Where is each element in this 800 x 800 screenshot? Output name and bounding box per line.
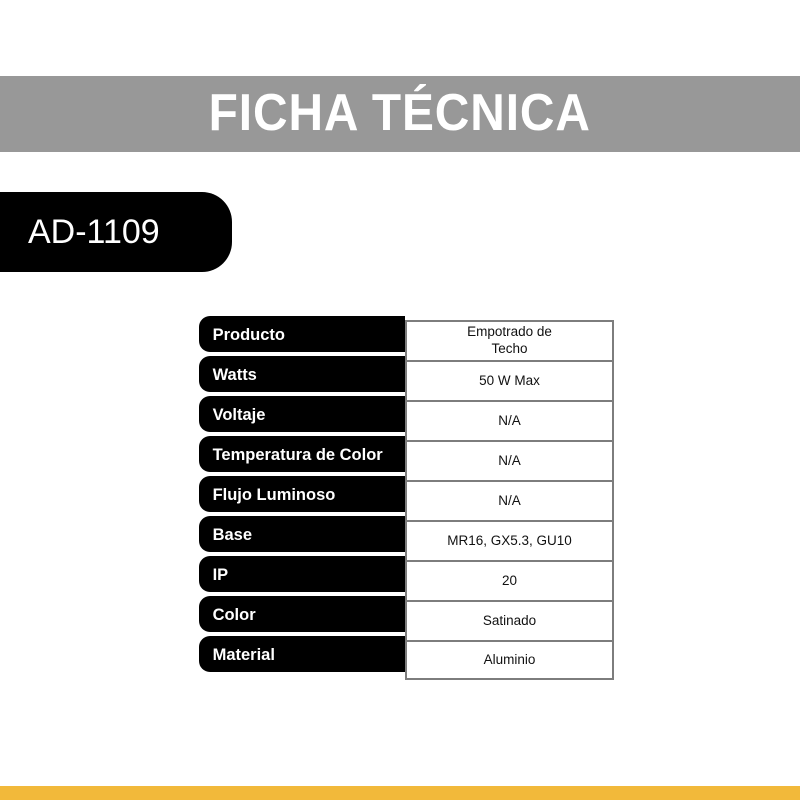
spec-value-cell: MR16, GX5.3, GU10 — [405, 520, 614, 560]
spec-row: Flujo LuminosoN/A — [199, 476, 614, 516]
spec-value-text: Empotrado de Techo — [461, 324, 558, 358]
tech-spec-sheet: FICHA TÉCNICA AD-1109 ProductoEmpotrado … — [0, 0, 800, 800]
spec-label-text: Watts — [199, 366, 257, 383]
spec-table: ProductoEmpotrado de TechoWatts50 W MaxV… — [199, 316, 614, 676]
spec-label-text: Flujo Luminoso — [199, 486, 335, 503]
spec-value-text: 50 W Max — [473, 373, 546, 390]
spec-value-text: Aluminio — [478, 652, 542, 669]
spec-label-text: Voltaje — [199, 406, 265, 423]
spec-value-text: 20 — [496, 573, 523, 590]
spec-row: ColorSatinado — [199, 596, 614, 636]
spec-value-text: N/A — [492, 413, 527, 430]
spec-label-pill: Voltaje — [199, 396, 405, 432]
footer-accent-bar — [0, 786, 800, 800]
spec-value-cell: N/A — [405, 480, 614, 520]
spec-label-pill: Temperatura de Color — [199, 436, 405, 472]
spec-row: ProductoEmpotrado de Techo — [199, 316, 614, 356]
spec-row: BaseMR16, GX5.3, GU10 — [199, 516, 614, 556]
spec-value-cell: Empotrado de Techo — [405, 320, 614, 360]
spec-label-text: Material — [199, 646, 275, 663]
spec-label-pill: Material — [199, 636, 405, 672]
spec-value-cell: 20 — [405, 560, 614, 600]
spec-label-pill: Color — [199, 596, 405, 632]
spec-row: Watts50 W Max — [199, 356, 614, 396]
spec-label-text: Producto — [199, 326, 285, 343]
spec-value-cell: N/A — [405, 440, 614, 480]
header-band: FICHA TÉCNICA — [0, 76, 800, 152]
spec-value-cell: 50 W Max — [405, 360, 614, 400]
spec-label-pill: Producto — [199, 316, 405, 352]
spec-value-text: Satinado — [477, 613, 542, 630]
spec-value-cell: N/A — [405, 400, 614, 440]
spec-label-pill: Base — [199, 516, 405, 552]
product-code-tab: AD-1109 — [0, 192, 232, 272]
spec-label-pill: IP — [199, 556, 405, 592]
spec-value-text: N/A — [492, 453, 527, 470]
spec-value-text: N/A — [492, 493, 527, 510]
spec-label-pill: Watts — [199, 356, 405, 392]
product-code-label: AD-1109 — [0, 215, 160, 249]
spec-row: VoltajeN/A — [199, 396, 614, 436]
spec-label-text: Temperatura de Color — [199, 446, 383, 463]
spec-row: IP20 — [199, 556, 614, 596]
spec-value-cell: Satinado — [405, 600, 614, 640]
spec-row: Temperatura de ColorN/A — [199, 436, 614, 476]
spec-row: MaterialAluminio — [199, 636, 614, 676]
spec-label-text: Color — [199, 606, 256, 623]
spec-value-cell: Aluminio — [405, 640, 614, 680]
spec-value-text: MR16, GX5.3, GU10 — [441, 533, 578, 550]
spec-label-text: IP — [199, 566, 228, 583]
page-title: FICHA TÉCNICA — [209, 87, 591, 142]
spec-label-text: Base — [199, 526, 252, 543]
spec-label-pill: Flujo Luminoso — [199, 476, 405, 512]
